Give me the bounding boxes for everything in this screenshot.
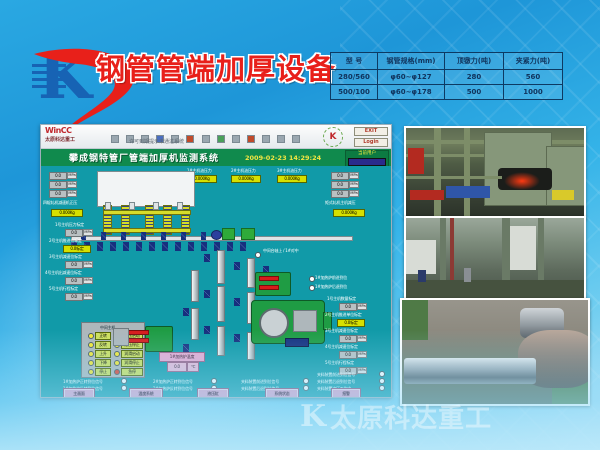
status-led [379,378,385,384]
aux-red-line [127,338,149,343]
scada-mimic: 0.0 MPa 0.0 MPa 0.0 MPa 四辊轧机减速机正压 0.000K… [41,166,391,397]
right-calib-value: 0.0 [339,335,357,343]
hydraulic-cylinder [247,258,255,288]
left-calib-unit: MPa [83,261,93,268]
heater-reverse-label: 1#加热炉后退到位 [315,284,347,289]
hydraulic-cylinder [217,286,225,322]
nav-button-main[interactable]: 主画面 [63,388,95,397]
photo-upset-pipe-end [400,298,590,406]
table-row: 280/560 φ60~φ127 280 560 [331,70,563,85]
right-meter-value: 0.0 [331,181,349,189]
furnace-nozzle [105,202,111,210]
left-meter-unit: MPa [67,172,77,179]
panel-led [88,342,94,348]
feeder-box [241,228,255,240]
watermark-logo: K [300,399,326,434]
left-calib-caption: 1号主机压力标定 [55,222,84,227]
roller-stand [162,242,168,251]
drive-motor [211,230,222,240]
heater-temp-caption: 1#加热炉温度 [159,352,205,362]
photo-upset-pipe-end-image [402,300,588,404]
new-icon[interactable] [111,135,119,143]
roller-stand [123,242,129,251]
left-meter-unit: MPa [67,181,77,188]
cylinder-valve [234,262,240,270]
redo-icon[interactable] [232,135,240,143]
right-calib-value: 0.0 [339,351,357,359]
left-calib-caption: 3号主机减速位标定 [49,254,82,259]
login-button[interactable]: Login [354,138,388,147]
header: K 钢管管端加厚设备 型 号 钢管规格(mm) 顶镦力(吨) 夹紧力(吨) 28… [0,0,600,126]
spec-cell: 500 [445,85,504,100]
current-user-panel: 当前用户 [345,150,389,167]
roller-valve [201,232,206,240]
hydraulic-cylinder [217,250,225,284]
panel-left-btn[interactable]: 上升 [95,350,111,358]
right-meter-value: 0.0 [331,190,349,198]
left-meter-value: 0.0 [49,172,67,180]
spec-cell: φ60~φ178 [378,85,445,100]
wincc-logo-subtext: 太原科达重工 [45,136,107,143]
photo-rolling-mill-image [406,128,584,217]
zoom-icon[interactable] [277,135,285,143]
right-calib-caption: 3号主机减速位标定 [325,328,358,333]
right-calib-unit: MPa [357,367,367,374]
right-calib-caption: 4号主机减速位标定 [325,344,358,349]
license-notice: 许可到期提示未通过系统 [129,138,184,145]
hydraulic-cylinder [191,270,199,302]
panel-led [114,360,120,366]
photo-workshop-image [406,218,584,298]
panel-led [88,333,94,339]
roller-stand [175,242,181,251]
nav-button-alarm[interactable]: 报警 [331,388,361,397]
spec-cell: 280/560 [331,70,378,85]
roller-valve [141,232,146,240]
left-calib-value: 0.0 [65,261,83,269]
left-meter-value: 0.0 [49,190,67,198]
spec-cell: 500/100 [331,85,378,100]
cylinder-valve [183,308,189,316]
center-label: 中间台轴上 / 1#对中 [263,248,298,253]
panel-right-btn[interactable]: 润滑停止 [121,359,143,367]
top-meter-value: 0.000Kg [231,175,261,183]
cylinder-valve [183,344,189,352]
roller-stand [136,242,142,251]
right-meter-unit: MPa [349,172,359,179]
panel-led [88,369,94,375]
panel-left-btn[interactable]: 下降 [95,359,111,367]
nav-button-status[interactable]: 系统状态 [265,388,299,397]
left-calib-caption: 4号主机出减速位标定 [45,270,82,275]
left-calib-unit: MPa [83,277,93,284]
spec-header-pipe-size: 钢管规格(mm) [378,53,445,70]
right-calib-value: 0.0 [339,303,357,311]
top-meter-caption: 3#主机油压力 [277,168,302,173]
drive-gearbox [222,228,235,240]
panel-right-btn[interactable]: 急停 [121,368,143,376]
right-calib-value: 0.0标定 [337,319,365,327]
spec-table-header-row: 型 号 钢管规格(mm) 顶镦力(吨) 夹紧力(吨) [331,53,563,70]
left-calib-value: 0.0 [65,229,83,237]
nav-button-temperature[interactable]: 温度系统 [129,388,163,397]
left-meter-unit: MPa [67,190,77,197]
left-calib-unit: MPa [83,293,93,300]
photo-workshop [404,216,586,300]
roller-stand [188,242,194,251]
status-label: 1#加热炉正转到位信号 [63,379,103,384]
hmi-title: 攀成钢特管厂管端加厚机监测系统 [69,151,219,164]
right-meter-unit: MPa [349,190,359,197]
hmi-toolbar: WinCC 太原科达重工 [41,125,391,149]
status-led [379,371,385,377]
status-led [121,385,127,391]
hmi-window-buttons: EXIT Login [354,127,388,149]
photo-rolling-mill [404,126,586,219]
spec-header-clamp-force: 夹紧力(吨) [504,53,563,70]
panel-left-btn[interactable]: 反转 [95,341,111,349]
panel-led [88,360,94,366]
roller-stand [149,242,155,251]
status-label: 夹料装置前进到位信号 [317,372,355,377]
wincc-logo: WinCC 太原科达重工 [45,126,107,143]
undo-icon[interactable] [217,135,225,143]
roller-valve [101,232,106,240]
hydraulic-cylinder [191,308,199,340]
status-led [303,378,309,384]
spec-header-upset-force: 顶镦力(吨) [445,53,504,70]
panel-led [88,351,94,357]
status-label: 2#加热炉正转到位信号 [153,379,193,384]
right-meter-unit: MPa [349,181,359,188]
status-led [303,385,309,391]
right-calib-unit: MPa [357,303,367,310]
left-meter-value: 0.0 [49,181,67,189]
panel-led-estop [114,369,120,375]
center-status-led [255,252,261,258]
roller-valve [161,232,166,240]
right-calib-caption: 2号主机推进单位标定 [325,312,362,317]
cylinder-valve [234,298,240,306]
panel-led [114,351,120,357]
roller-stand [97,242,103,251]
roller-stand [110,242,116,251]
hmi-title-bar: 攀成钢特管厂管端加厚机监测系统 2009-02-23 14:29:24 当前用户 [41,149,391,166]
roller-stand [201,242,207,251]
toolbar-icons[interactable] [111,128,311,137]
panel-left-btn[interactable]: 停止 [95,368,111,376]
table-row: 500/100 φ60~φ178 500 1000 [331,85,563,100]
exit-button[interactable]: EXIT [354,127,388,136]
furnace-nozzle [177,202,183,210]
furnace-header-pipe [103,210,191,215]
left-calib-caption: 5号主机行程标定 [49,286,78,291]
left-block-summary: 0.000Kg [51,209,83,217]
heater-forward-label: 1#加热炉前进到位 [315,275,347,280]
current-user-label: 当前用户 [346,151,388,157]
top-meter-caption: 2#主机油压力 [231,168,256,173]
upsetter-red-indicator [259,285,279,290]
right-calib-caption: 1号主机数量标定 [327,296,356,301]
status-led [211,378,217,384]
right-calib-unit: MPa [357,351,367,358]
current-user-field[interactable] [348,158,386,166]
grid-icon[interactable] [292,135,300,143]
furnace-nozzle [129,202,135,210]
roller-stand [227,242,233,251]
cylinder-valve [204,326,210,334]
spec-cell: 280 [445,70,504,85]
aux-red-line [127,330,149,335]
left-block-caption: 四辊轧机减速机正压 [43,200,77,205]
left-calib-unit: MPa [83,229,93,236]
right-block-summary: 0.000Kg [333,209,365,217]
hmi-window: WinCC 太原科达重工 [40,124,392,398]
status-led [379,385,385,391]
panel-left-btn[interactable]: 正转 [95,332,111,340]
spec-cell: φ60~φ127 [378,70,445,85]
page-title: 钢管管端加厚设备 [96,52,336,86]
left-calib-value: 0.0 [65,277,83,285]
furnace-nozzle [153,202,159,210]
upsetter-red-indicator [259,276,279,281]
nav-button-hydraulic[interactable]: 液压缸 [197,388,229,397]
status-label: 夹料装置前进到位信号 [241,379,279,384]
hydraulic-cylinder [217,326,225,356]
upsetter-control-box [293,310,317,332]
furnace-footer-pipe [103,228,191,233]
spec-table: 型 号 钢管规格(mm) 顶镦力(吨) 夹紧力(吨) 280/560 φ60~φ… [330,52,563,100]
spec-cell: 1000 [504,85,563,100]
roller-stand [240,242,246,251]
roller-valve [181,232,186,240]
left-calib-value: 0.0 [65,293,83,301]
paste-icon[interactable] [202,135,210,143]
left-calib-value: 0.0标定 [63,245,91,253]
spec-cell: 560 [504,70,563,85]
aux-machine [145,326,173,352]
heater-temp-unit: ℃ [187,362,199,372]
cylinder-valve [204,254,210,262]
top-meter-value: 0.000Kg [277,175,307,183]
left-calib-caption: 2号主机推进位标定 [49,238,82,243]
heater-temp-value: 0.0 [167,362,187,372]
upsetter-flywheel [259,308,289,338]
spec-header-model: 型 号 [331,53,378,70]
upsetter-motor [285,338,309,347]
status-label: 夹料装置后退到位信号 [317,379,355,384]
cylinder-valve [234,334,240,342]
wincc-logo-text: WinCC [45,126,72,135]
right-calib-unit: MPa [357,335,367,342]
right-calib-caption: 5号主机行程标定 [325,360,354,365]
cylinder-valve [204,290,210,298]
stop-icon[interactable] [262,135,270,143]
copy-icon[interactable] [186,135,194,143]
right-block-caption: 矩式轧机主机减压 [325,200,355,205]
status-led [121,378,127,384]
roller-valve [121,232,126,240]
right-meter-value: 0.0 [331,172,349,180]
run-icon[interactable] [247,135,255,143]
slide-root: K 钢管管端加厚设备 型 号 钢管规格(mm) 顶镦力(吨) 夹紧力(吨) 28… [0,0,600,450]
panel-right-btn[interactable]: 润滑启动 [121,350,143,358]
hmi-datetime: 2009-02-23 14:29:24 [245,154,321,162]
runtime-activity-icon: K [323,127,343,147]
aux-gray-block [113,328,129,346]
